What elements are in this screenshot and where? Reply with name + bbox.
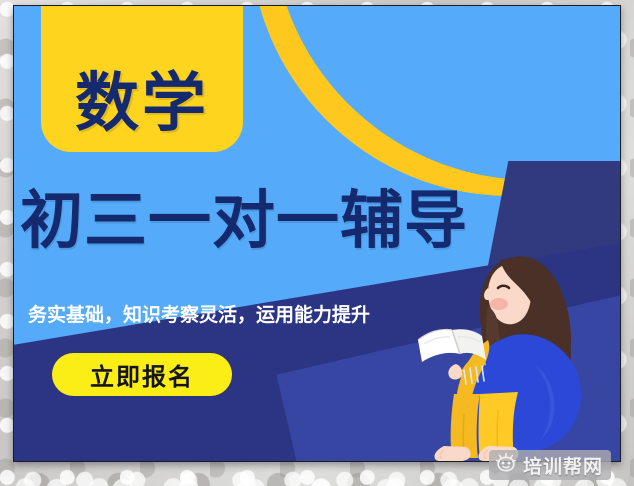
watermark-text: 培训帮网: [523, 452, 603, 479]
subject-badge-label: 数学: [75, 72, 209, 136]
enroll-now-button-label: 立即报名: [90, 357, 194, 392]
watermark: 培训帮网: [489, 450, 611, 480]
enroll-now-button[interactable]: 立即报名: [52, 353, 232, 396]
sun-smiley-icon: [495, 452, 517, 479]
girl-reading-illustration: [414, 244, 621, 462]
page-title: 初三一对一辅导: [20, 189, 620, 252]
poster-subtitle: 务实基础，知识考察灵活，运用能力提升: [28, 300, 370, 327]
subject-badge: 数学: [41, 5, 243, 152]
page-backdrop: 数学 初三一对一辅导 务实基础，知识考察灵活，运用能力提升 立即报名: [0, 0, 634, 486]
promotional-poster: 数学 初三一对一辅导 务实基础，知识考察灵活，运用能力提升 立即报名: [13, 5, 621, 462]
